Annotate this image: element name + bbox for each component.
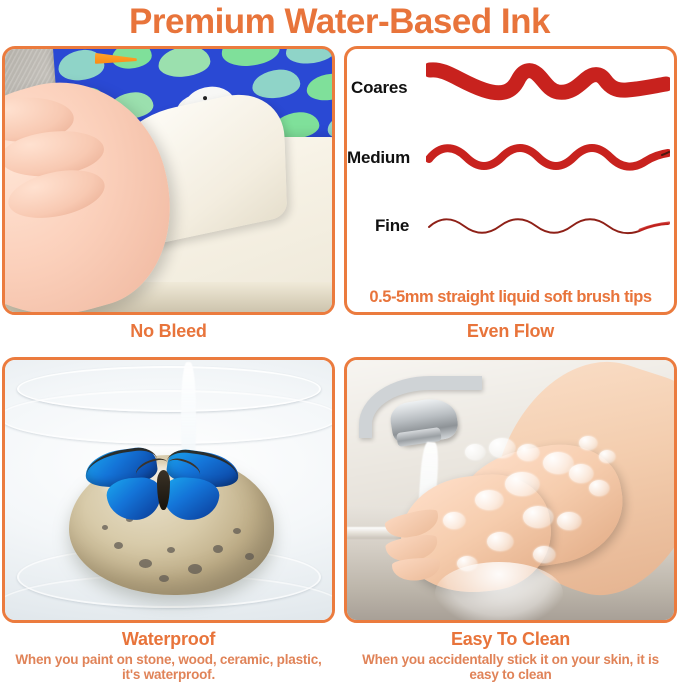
- stroke-panel-even-flow: Coares Medium: [344, 46, 677, 315]
- stroke-label-fine: Fine: [375, 216, 409, 236]
- caption-sub-easy-to-clean: When you accidentally stick it on your s…: [344, 652, 677, 684]
- stroke-sample-medium-icon: [426, 135, 670, 181]
- caption-title-no-bleed: No Bleed: [2, 320, 335, 343]
- stroke-samples: Coares Medium: [347, 49, 674, 274]
- stroke-row-medium: Medium: [347, 129, 674, 187]
- stroke-sample-coarse-icon: [426, 60, 670, 116]
- stroke-row-fine: Fine: [347, 197, 674, 255]
- butterfly-wing-lower-left: [106, 476, 163, 522]
- product-infographic: Premium Water-Based Ink: [0, 0, 679, 689]
- caption-sub-waterproof: When you paint on stone, wood, ceramic, …: [2, 652, 335, 684]
- page-title: Premium Water-Based Ink: [0, 2, 679, 42]
- feature-grid: No Bleed Coares Medium: [0, 46, 679, 689]
- photo-no-bleed: [5, 49, 332, 312]
- feature-cell-no-bleed: No Bleed: [2, 46, 335, 343]
- stroke-row-coarse: Coares: [347, 59, 674, 117]
- caption-title-waterproof: Waterproof: [2, 628, 335, 651]
- caption-title-easy-to-clean: Easy To Clean: [344, 628, 677, 651]
- water-splash: [435, 562, 563, 620]
- photo-waterproof: [5, 360, 332, 620]
- photo-panel-waterproof: [2, 357, 335, 623]
- caption-title-even-flow: Even Flow: [344, 320, 677, 343]
- photo-panel-easy-to-clean: [344, 357, 677, 623]
- stroke-label-medium: Medium: [347, 148, 410, 168]
- stroke-sample-fine-icon: [426, 207, 670, 245]
- photo-panel-no-bleed: [2, 46, 335, 315]
- feature-cell-even-flow: Coares Medium: [344, 46, 677, 343]
- butterfly-illustration: [83, 448, 243, 524]
- stroke-label-coarse: Coares: [351, 78, 407, 98]
- butterfly-wing-lower-right: [162, 476, 221, 522]
- feature-cell-easy-to-clean: Easy To Clean When you accidentally stic…: [344, 357, 677, 683]
- brush-tip-note: 0.5-5mm straight liquid soft brush tips: [347, 288, 674, 307]
- photo-easy-to-clean: [347, 360, 674, 620]
- feature-cell-waterproof: Waterproof When you paint on stone, wood…: [2, 357, 335, 683]
